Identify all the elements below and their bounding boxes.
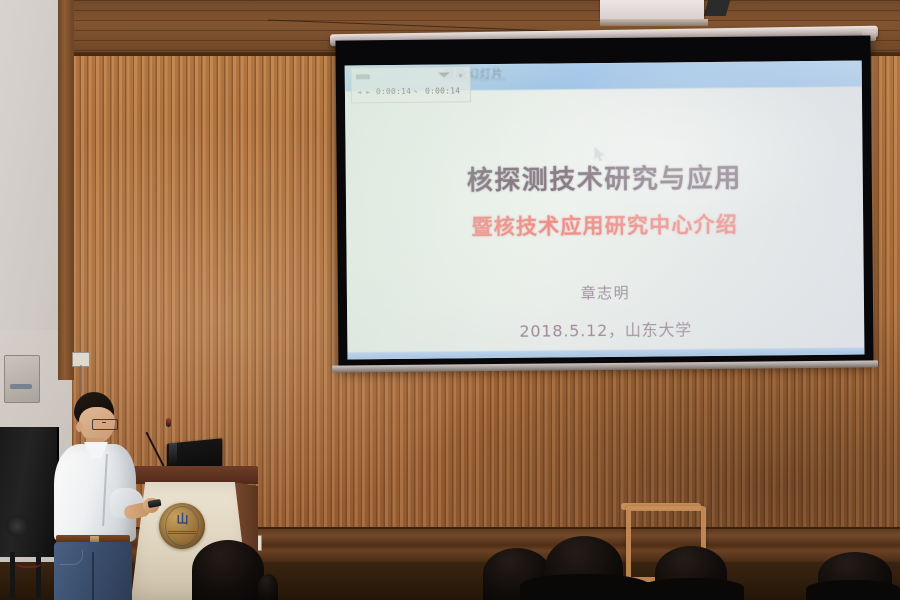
list-item bbox=[640, 578, 744, 600]
list-item bbox=[258, 574, 278, 600]
ceiling-projector bbox=[600, 0, 704, 20]
slide-subtitle: 暨核技术应用研究中心介绍 bbox=[471, 209, 738, 242]
wall-pillar bbox=[58, 0, 74, 380]
slide-date-venue: 2018.5.12，山东大学 bbox=[519, 316, 692, 342]
presenter-ear bbox=[76, 422, 83, 432]
emblem-mark: 山 bbox=[176, 513, 187, 525]
wall-wire bbox=[80, 365, 82, 393]
slide-title: 核探测技术研究与应用 bbox=[467, 158, 742, 198]
presenter bbox=[48, 392, 158, 600]
list-item bbox=[806, 580, 900, 600]
projected-image: 放映幻灯片 Microsoft PowerPoint × ◄ ► 0:00:14… bbox=[345, 61, 865, 360]
projector-mount-arm bbox=[704, 0, 731, 16]
speaker-cable bbox=[16, 556, 42, 568]
speaker-cone-icon bbox=[6, 515, 28, 537]
presenter-jeans-seam bbox=[92, 552, 94, 600]
speaker-stand-left bbox=[10, 552, 15, 598]
av-control-panel[interactable] bbox=[4, 355, 40, 403]
projector-base bbox=[600, 19, 708, 26]
list-item bbox=[520, 574, 650, 600]
university-emblem: 山 bbox=[159, 503, 205, 549]
slide-content: 核探测技术研究与应用 暨核技术应用研究中心介绍 章志明 2018.5.12，山东… bbox=[345, 61, 865, 360]
emblem-text-band bbox=[168, 530, 196, 534]
eyeglasses-icon bbox=[92, 419, 118, 430]
microphone-head-icon bbox=[166, 418, 171, 427]
list-item bbox=[192, 540, 264, 600]
emblem-inner-ring: 山 bbox=[165, 506, 199, 546]
laptop-screen-glint bbox=[169, 443, 177, 466]
lecture-hall-photo: 放映幻灯片 Microsoft PowerPoint × ◄ ► 0:00:14… bbox=[0, 0, 900, 600]
slide-author: 章志明 bbox=[581, 282, 630, 303]
projection-screen: 放映幻灯片 Microsoft PowerPoint × ◄ ► 0:00:14… bbox=[335, 35, 873, 368]
